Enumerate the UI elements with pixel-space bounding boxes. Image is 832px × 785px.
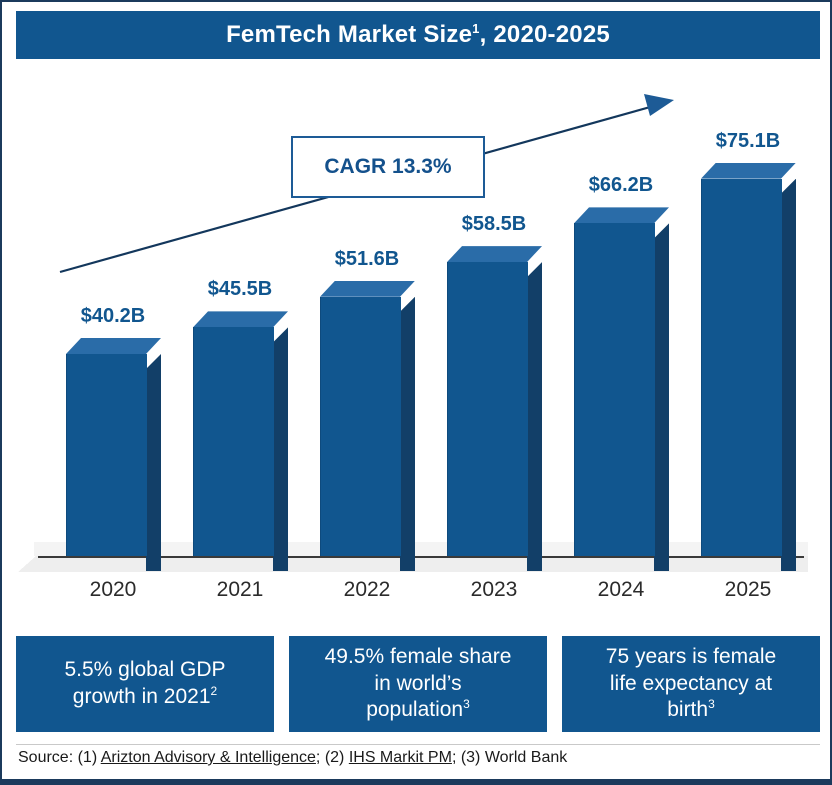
bar-front-face xyxy=(447,262,528,556)
source-suffix: ; (3) World Bank xyxy=(452,749,567,766)
title-main: FemTech Market Size xyxy=(226,21,472,48)
bar-front-face xyxy=(66,354,147,556)
bar-front-face xyxy=(320,297,401,556)
bar-side-face xyxy=(146,354,161,571)
source-link-arizton[interactable]: Arizton Advisory & Intelligence xyxy=(101,749,316,766)
bar-side-face xyxy=(527,262,542,571)
bar-side-face xyxy=(273,327,288,571)
chart-title-banner: FemTech Market Size1, 2020-2025 xyxy=(16,11,820,59)
bar-value-label-2023: $58.5B xyxy=(414,213,574,236)
bar-2025 xyxy=(701,179,781,556)
bar-front-face xyxy=(574,223,655,556)
bar-value-label-2021: $45.5B xyxy=(160,278,320,301)
chart-floor-left-wedge xyxy=(18,556,36,572)
stat-superscript: 2 xyxy=(211,684,218,698)
stat-line: life expectancy at xyxy=(610,672,772,695)
stat-box-gdp-growth-text: 5.5% global GDPgrowth in 20212 xyxy=(64,657,225,711)
bar-front-face xyxy=(701,179,782,556)
stat-box-female-share-text: 49.5% female sharein world’spopulation3 xyxy=(325,644,512,725)
stat-line: 49.5% female share xyxy=(325,645,512,668)
bar-top-face xyxy=(320,281,415,297)
x-tick-2020: 2020 xyxy=(53,578,173,602)
bar-top-face xyxy=(66,338,161,354)
bar-side-face xyxy=(781,179,796,571)
x-tick-2022: 2022 xyxy=(307,578,427,602)
x-tick-2024: 2024 xyxy=(561,578,681,602)
stat-box-life-expectancy: 75 years is femalelife expectancy atbirt… xyxy=(562,636,820,732)
bar-top-face xyxy=(574,207,669,223)
stat-superscript: 3 xyxy=(708,697,715,711)
stat-callout-row: 5.5% global GDPgrowth in 20212 49.5% fem… xyxy=(16,636,820,732)
stat-box-gdp-growth: 5.5% global GDPgrowth in 20212 xyxy=(16,636,274,732)
x-tick-2021: 2021 xyxy=(180,578,300,602)
stat-superscript: 3 xyxy=(463,697,470,711)
bar-value-label-2025: $75.1B xyxy=(668,130,828,153)
bar-2020 xyxy=(66,354,146,556)
page-title: FemTech Market Size1, 2020-2025 xyxy=(226,21,610,49)
title-suffix: , 2020-2025 xyxy=(480,21,610,48)
source-separator: ; (2) xyxy=(316,749,349,766)
bar-top-face xyxy=(447,246,542,262)
title-superscript: 1 xyxy=(472,21,479,36)
bar-value-label-2020: $40.2B xyxy=(33,305,193,328)
source-link-ihs-markit[interactable]: IHS Markit PM xyxy=(349,749,452,766)
source-prefix: Source: (1) xyxy=(18,749,101,766)
bar-2024 xyxy=(574,223,654,556)
cagr-label: CAGR 13.3% xyxy=(324,155,451,179)
cagr-callout-box: CAGR 13.3% xyxy=(291,136,485,198)
bottom-accent-rule xyxy=(2,779,832,783)
bar-side-face xyxy=(400,297,415,571)
bar-value-label-2022: $51.6B xyxy=(287,248,447,271)
x-tick-2025: 2025 xyxy=(688,578,808,602)
stat-box-life-expectancy-text: 75 years is femalelife expectancy atbirt… xyxy=(606,644,776,725)
bar-2023 xyxy=(447,262,527,556)
bar-top-face xyxy=(193,311,288,327)
stat-line: population xyxy=(366,698,463,721)
stat-line: in world’s xyxy=(374,672,461,695)
stat-line: growth in 2021 xyxy=(73,685,211,708)
x-tick-2023: 2023 xyxy=(434,578,554,602)
stat-box-female-share: 49.5% female sharein world’spopulation3 xyxy=(289,636,547,732)
bar-front-face xyxy=(193,327,274,556)
bar-value-label-2024: $66.2B xyxy=(541,174,701,197)
stat-line: birth xyxy=(667,698,708,721)
bar-2021 xyxy=(193,327,273,556)
femtech-market-size-figure: FemTech Market Size1, 2020-2025 CAGR 13.… xyxy=(0,0,832,785)
bar-side-face xyxy=(654,223,669,571)
source-footnote: Source: (1) Arizton Advisory & Intellige… xyxy=(18,749,567,767)
source-divider xyxy=(16,744,820,745)
stat-line: 5.5% global GDP xyxy=(64,658,225,681)
stat-line: 75 years is female xyxy=(606,645,776,668)
bar-top-face xyxy=(701,163,796,179)
bar-chart-plot-area: CAGR 13.3% $40.2B$45.5B$51.6B$58.5B$66.2… xyxy=(16,64,820,622)
bar-2022 xyxy=(320,297,400,556)
